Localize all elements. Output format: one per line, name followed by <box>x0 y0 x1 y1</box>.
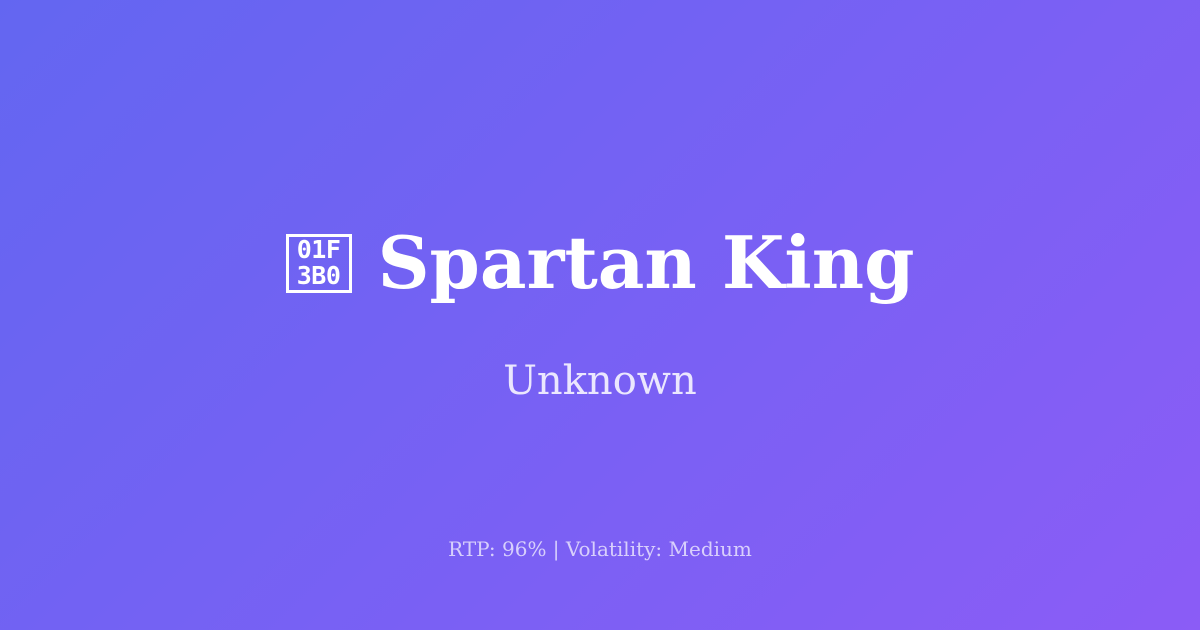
og-preview-card: 01F 3B0 Spartan King Unknown RTP: 96% | … <box>0 0 1200 630</box>
page-title: Spartan King <box>378 225 915 301</box>
glyph-hex-top: 01F <box>297 237 341 263</box>
game-stats-line: RTP: 96% | Volatility: Medium <box>0 536 1200 562</box>
provider-subtitle: Unknown <box>503 357 697 405</box>
glyph-hex-bottom: 3B0 <box>297 263 341 289</box>
title-row: 01F 3B0 Spartan King <box>0 225 1200 301</box>
slot-machine-icon: 01F 3B0 <box>286 234 352 293</box>
